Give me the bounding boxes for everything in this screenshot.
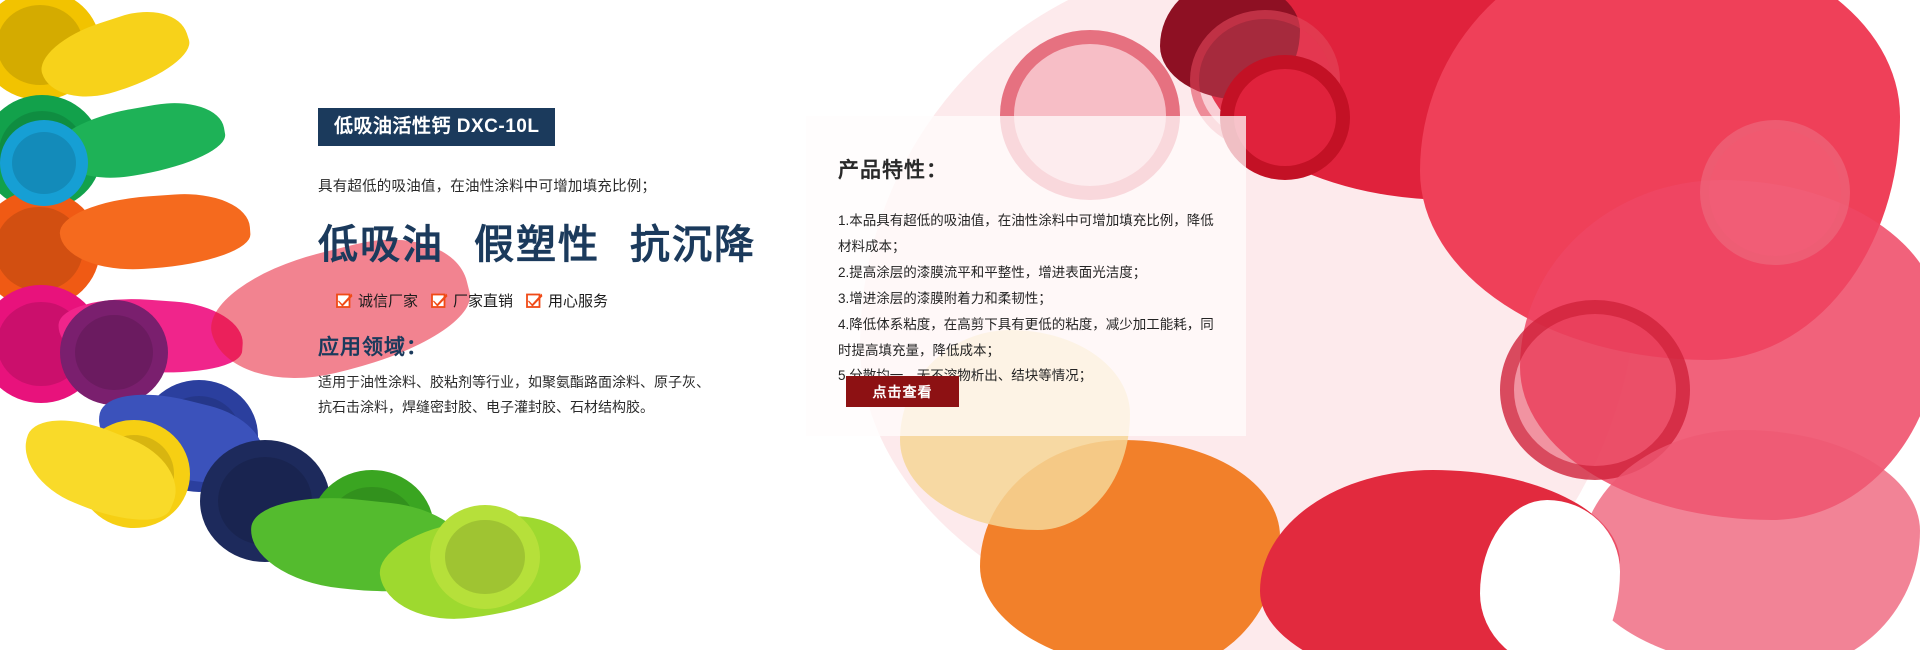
feature-item: 3.增进涂层的漆膜附着力和柔韧性；	[838, 286, 1218, 312]
checkbox-checked-icon	[431, 292, 448, 309]
trust-badge-label-1: 诚信厂家	[358, 290, 418, 311]
trust-badge-label-2: 厂家直销	[453, 290, 513, 311]
paint-smear-orange	[58, 189, 253, 274]
paint-can-cyan	[0, 120, 88, 206]
product-headline: 低吸油 假塑性 抗沉降	[318, 212, 748, 270]
product-subline: 具有超低的吸油值，在油性涂料中可增加填充比例；	[318, 175, 748, 196]
paint-can-lime	[430, 505, 540, 609]
feature-item: 4.降低体系粘度，在高剪下具有更低的粘度，减少加工能耗，同时提高填充量，降低成本…	[838, 312, 1218, 364]
feature-item: 2.提高涂层的漆膜流平和平整性，增进表面光洁度；	[838, 260, 1218, 286]
trust-badge-row: 诚信厂家 厂家直销 用心服务	[318, 290, 748, 311]
headline-term-3: 抗沉降	[630, 212, 756, 270]
trust-badge-3: 用心服务	[526, 290, 608, 311]
product-title-badge: 低吸油活性钙 DXC-10L	[318, 108, 555, 146]
product-banner: 低吸油活性钙 DXC-10L 具有超低的吸油值，在油性涂料中可增加填充比例； 低…	[0, 0, 1920, 650]
headline-term-1: 低吸油	[318, 212, 444, 270]
headline-term-2: 假塑性	[474, 212, 600, 270]
trust-badge-2: 厂家直销	[431, 290, 513, 311]
application-heading: 应用领域：	[318, 331, 748, 361]
view-details-button[interactable]: 点击查看	[846, 376, 959, 407]
paint-can-purple	[60, 300, 168, 405]
feature-item: 1.本品具有超低的吸油值，在油性涂料中可增加填充比例，降低材料成本；	[838, 208, 1218, 260]
application-description: 适用于油性涂料、胶粘剂等行业，如聚氨酯路面涂料、原子灰、抗石击涂料，焊缝密封胶、…	[318, 370, 722, 419]
features-panel-title: 产品特性：	[838, 154, 1218, 184]
features-list: 1.本品具有超低的吸油值，在油性涂料中可增加填充比例，降低材料成本； 2.提高涂…	[838, 208, 1218, 389]
product-content-column: 低吸油活性钙 DXC-10L 具有超低的吸油值，在油性涂料中可增加填充比例； 低…	[318, 108, 748, 419]
checkbox-checked-icon	[336, 292, 353, 309]
paint-ring-far-right	[1700, 120, 1850, 265]
checkbox-checked-icon	[526, 292, 543, 309]
trust-badge-label-3: 用心服务	[548, 290, 608, 311]
trust-badge-1: 诚信厂家	[336, 290, 418, 311]
